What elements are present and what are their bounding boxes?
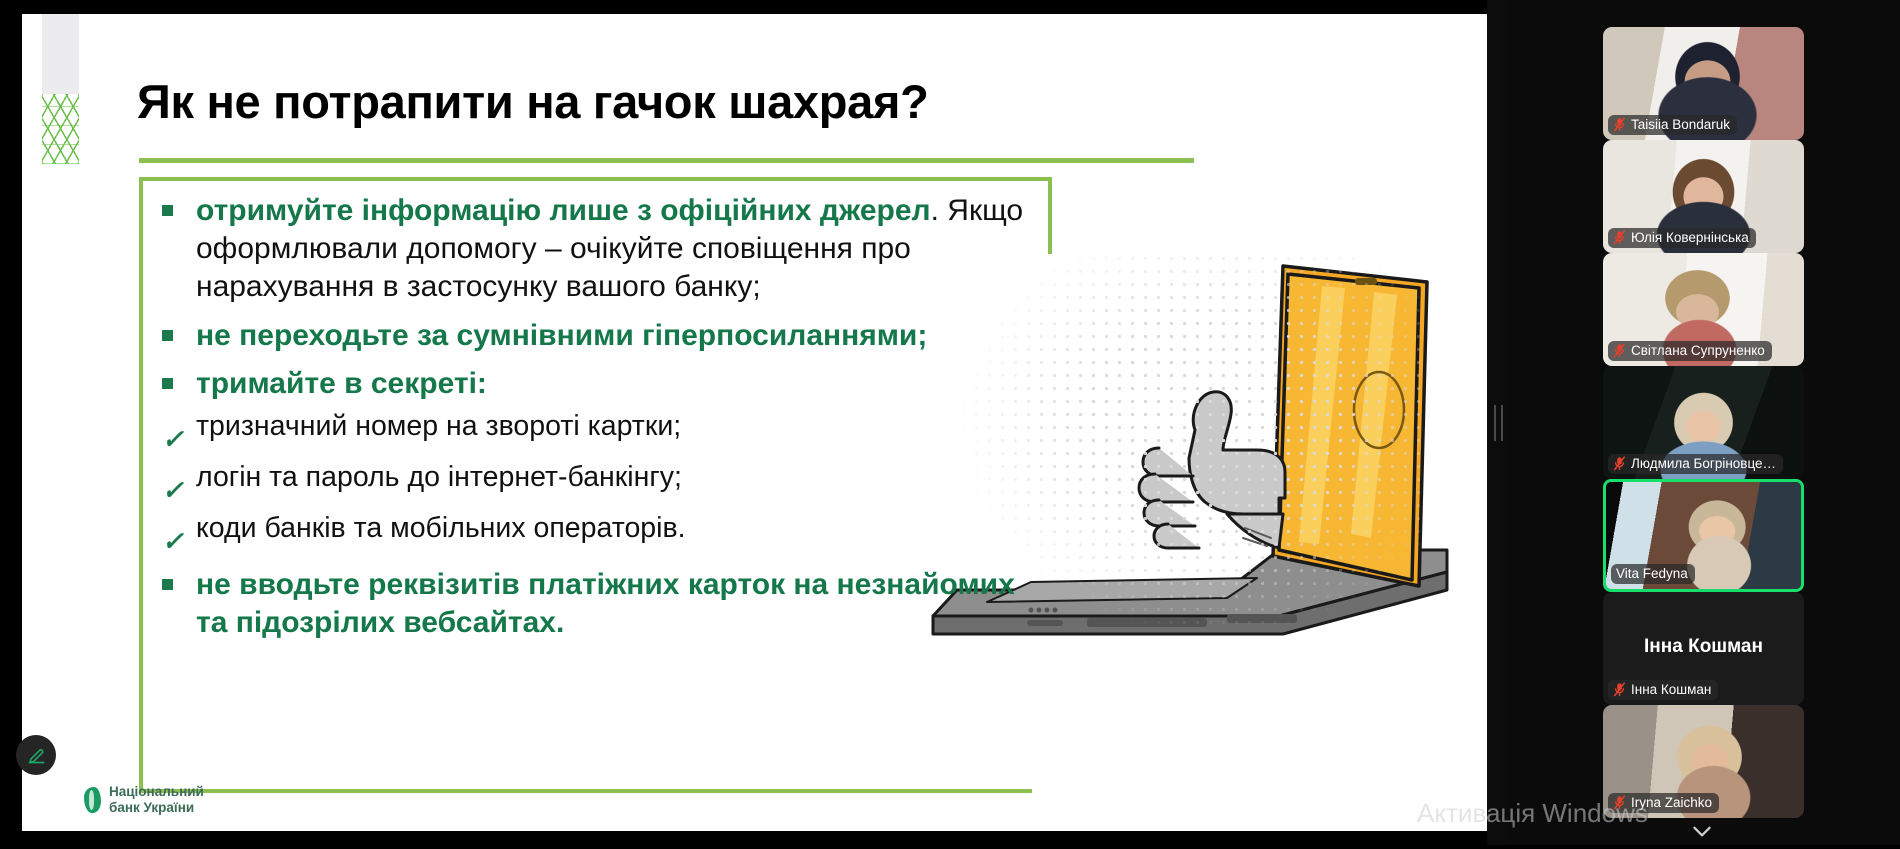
- participant-name-badge: Світлана Супруненко: [1608, 341, 1772, 361]
- list-item: ✓ коди банків та мобільних операторів.: [162, 511, 1042, 554]
- participant-name: Людмила Богріновце…: [1631, 456, 1776, 471]
- participant-name-badge: Юлія Ковернінська: [1608, 228, 1756, 248]
- participant-name: Юлія Ковернінська: [1631, 230, 1749, 245]
- nbu-logo: Національний банк України: [84, 784, 204, 816]
- slide-decoration-gray: [42, 14, 79, 94]
- list-item: тримайте в секреті:: [162, 365, 1042, 403]
- check-bullet-icon: ✓: [162, 409, 196, 452]
- participant-name-badge: Інна Кошман: [1608, 680, 1718, 700]
- page-title: Як не потрапити на гачок шахрая?: [137, 74, 929, 129]
- participant-display-name: Інна Кошман: [1603, 635, 1804, 657]
- slide-decoration-lattice: [42, 94, 79, 164]
- list-item-text: не переходьте за сумнівними гіперпосилан…: [196, 317, 927, 355]
- nbu-mark-icon: [84, 787, 101, 813]
- list-item: не переходьте за сумнівними гіперпосилан…: [162, 317, 1042, 355]
- windows-activation-watermark: Активація Windows: [1417, 798, 1648, 829]
- list-item: ✓ тризначний номер на звороті картки;: [162, 409, 1042, 452]
- presentation-slide: Як не потрапити на гачок шахрая?: [22, 14, 1487, 831]
- title-underline: [139, 158, 1194, 163]
- participant-tile[interactable]: Людмила Богріновце…: [1603, 366, 1804, 479]
- participant-tile-active-speaker[interactable]: Vita Fedyna: [1603, 479, 1804, 592]
- list-item: не вводьте реквізитів платіжних карток н…: [162, 566, 1042, 642]
- resize-handle[interactable]: [1490, 0, 1506, 845]
- mic-muted-icon: [1613, 230, 1626, 245]
- mic-muted-icon: [1613, 117, 1626, 132]
- list-item: отримуйте інформацію лише з офіційних дж…: [162, 192, 1042, 305]
- participant-name: Vita Fedyna: [1616, 566, 1688, 581]
- mic-muted-icon: [1613, 456, 1626, 471]
- participant-name: Інна Кошман: [1631, 682, 1711, 697]
- mic-muted-icon: [1613, 343, 1626, 358]
- list-item-text: коди банків та мобільних операторів.: [196, 511, 686, 547]
- participant-name-badge: Taisiia Bondaruk: [1608, 115, 1737, 135]
- participant-tile[interactable]: Taisiia Bondaruk: [1603, 27, 1804, 140]
- zoom-meeting-window: Як не потрапити на гачок шахрая?: [0, 0, 1900, 845]
- nbu-logo-line1: Національний: [109, 784, 204, 799]
- square-bullet-icon: [162, 566, 196, 590]
- pencil-icon: [26, 745, 47, 766]
- check-bullet-icon: ✓: [162, 460, 196, 503]
- nbu-logo-text: Національний банк України: [109, 784, 204, 816]
- participant-name: Taisiia Bondaruk: [1631, 117, 1730, 132]
- participant-name: Світлана Супруненко: [1631, 343, 1765, 358]
- list-item-text: тризначний номер на звороті картки;: [196, 409, 681, 445]
- list-item-text: тримайте в секреті:: [196, 365, 487, 403]
- shared-screen-area: Як не потрапити на гачок шахрая?: [0, 0, 1487, 845]
- participant-tile[interactable]: Юлія Ковернінська: [1603, 140, 1804, 253]
- square-bullet-icon: [162, 317, 196, 341]
- list-item: ✓ логін та пароль до інтернет-банкінгу;: [162, 460, 1042, 503]
- participant-name-badge: Людмила Богріновце…: [1608, 454, 1783, 474]
- participant-video-strip: Taisiia Bondaruk Юлія Ковернінська Світл…: [1506, 0, 1900, 845]
- bullet-list: отримуйте інформацію лише з офіційних дж…: [162, 192, 1042, 644]
- square-bullet-icon: [162, 192, 196, 216]
- participant-tile[interactable]: Світлана Супруненко: [1603, 253, 1804, 366]
- nbu-logo-line2: банк України: [109, 800, 194, 815]
- chevron-down-icon[interactable]: [1689, 818, 1715, 844]
- resize-grip-icon: [1494, 405, 1503, 441]
- list-item-text: логін та пароль до інтернет-банкінгу;: [196, 460, 682, 496]
- list-item-text: не вводьте реквізитів платіжних карток н…: [196, 566, 1042, 642]
- mic-muted-icon: [1613, 682, 1626, 697]
- square-bullet-icon: [162, 365, 196, 389]
- annotate-button[interactable]: [16, 735, 56, 775]
- check-bullet-icon: ✓: [162, 511, 196, 554]
- list-item-text: отримуйте інформацію лише з офіційних дж…: [196, 192, 1042, 305]
- participant-name-badge: Vita Fedyna: [1611, 564, 1695, 584]
- participant-tile[interactable]: Інна Кошман Інна Кошман: [1603, 592, 1804, 705]
